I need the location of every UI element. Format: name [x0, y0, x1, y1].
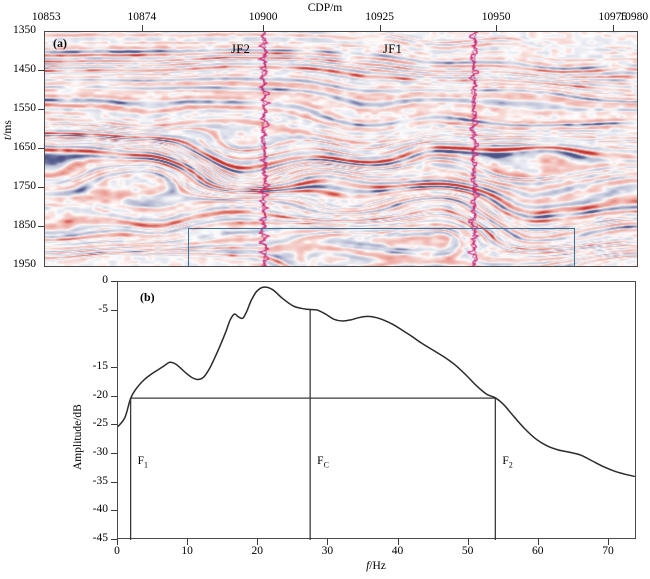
time-tick-label-1850: 1850 — [2, 219, 36, 231]
frequency-tick-label-30: 30 — [322, 545, 334, 557]
time-tick-label-1950: 1950 — [2, 258, 36, 270]
marker-label-F1: F1 — [138, 455, 148, 469]
seismic-section-panel[interactable]: (a) JF2 JF1 — [44, 31, 638, 267]
frequency-tick-label-40: 40 — [392, 545, 404, 557]
amplitude-spectrum-curve — [118, 287, 634, 476]
time-tick-label-1350: 1350 — [2, 24, 36, 36]
amplitude-tick-label--15: -15 — [78, 360, 108, 372]
amplitude-tick-label-0: 0 — [78, 274, 108, 286]
figure-root: CDP/m t/ms 10853108741090010925109501097… — [0, 0, 650, 579]
cdp-tick-label-10950: 10950 — [482, 11, 511, 23]
amplitude-tick-label--20: -20 — [78, 389, 108, 401]
amplitude-tick-label--40: -40 — [78, 503, 108, 515]
frequency-tick-label-0: 0 — [114, 545, 120, 557]
spectrum-annotation-lines — [131, 310, 496, 540]
time-tick-label-1550: 1550 — [2, 102, 36, 114]
time-tick-label-1450: 1450 — [2, 63, 36, 75]
amplitude-axis-title: Amplitude/dB — [72, 404, 84, 470]
well-label-jf2: JF2 — [231, 42, 250, 57]
cdp-tick-label-10900: 10900 — [249, 11, 278, 23]
marker-label-F2: F2 — [502, 455, 512, 469]
frequency-tick-label-20: 20 — [252, 545, 264, 557]
frequency-tick-label-10: 10 — [181, 545, 193, 557]
amplitude-tick-label--45: -45 — [78, 532, 108, 544]
amplitude-tick-label--5: -5 — [78, 303, 108, 315]
cdp-tick-label-10874: 10874 — [128, 11, 157, 23]
frequency-tick-label-50: 50 — [462, 545, 474, 557]
well-label-jf1: JF1 — [383, 42, 402, 57]
panel-b-tag: (b) — [140, 290, 155, 305]
frequency-tick-label-70: 70 — [602, 545, 614, 557]
time-axis-title: t/ms — [2, 120, 14, 140]
cdp-tick-label-10853: 10853 — [32, 11, 61, 23]
seismic-amplitude-image — [45, 32, 637, 266]
time-tick-label-1650: 1650 — [2, 141, 36, 153]
amplitude-tick-label--30: -30 — [78, 446, 108, 458]
spectrum-plot-area — [118, 282, 637, 540]
amplitude-tick-label--35: -35 — [78, 475, 108, 487]
amplitude-spectrum-panel[interactable]: (b) F1FCF2 — [117, 281, 636, 539]
marker-label-FC: FC — [317, 455, 329, 469]
panel-a-tag: (a) — [53, 36, 67, 51]
cdp-tick-label-10925: 10925 — [365, 11, 394, 23]
amplitude-tick-label--25: -25 — [78, 417, 108, 429]
frequency-axis-title: f/Hz — [366, 560, 386, 572]
frequency-tick-label-60: 60 — [532, 545, 544, 557]
time-tick-label-1750: 1750 — [2, 180, 36, 192]
cdp-axis-title: CDP/m — [308, 2, 343, 14]
cdp-tick-label-10980: 10980 — [619, 11, 648, 23]
